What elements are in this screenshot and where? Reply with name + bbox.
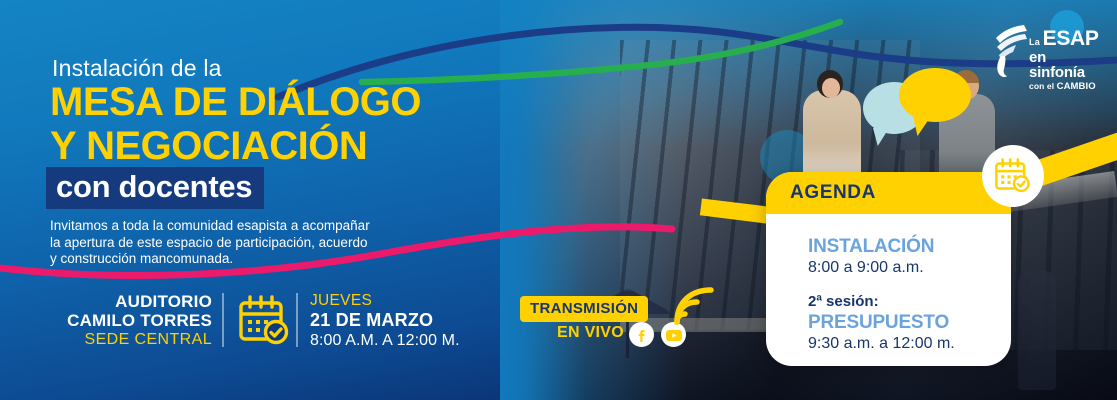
agenda-item: INSTALACIÓN 8:00 a 9:00 a.m. <box>808 236 1011 278</box>
live-broadcast-block: TRANSMISIÓN EN VIVO <box>520 296 700 358</box>
esap-logo-line-3: con el CAMBIO <box>1029 82 1101 92</box>
agenda-item-time: 8:00 a 9:00 a.m. <box>808 258 1011 278</box>
venue-block: AUDITORIO CAMILO TORRES SEDE CENTRAL <box>52 292 212 349</box>
event-banner: Instalación de la MESA DE DIÁLOGO Y NEGO… <box>0 0 1117 400</box>
agenda-item-title: INSTALACIÓN <box>808 236 1011 258</box>
lede-line-1: Invitamos a toda la comunidad esapista a… <box>50 218 430 235</box>
agenda-item-title: PRESUPUESTO <box>808 312 1011 334</box>
lede-line-3: y construcción mancomunada. <box>50 251 430 268</box>
headline-line-1: MESA DE DIÁLOGO <box>50 80 421 124</box>
agenda-calendar-badge <box>982 145 1044 207</box>
event-time: 8:00 A.M. A 12:00 M. <box>310 331 460 350</box>
transmission-pill: TRANSMISIÓN <box>520 296 648 322</box>
agenda-header-label: AGENDA <box>790 182 876 204</box>
agenda-card: AGENDA INSTALACIÓN 8:00 a 9:00 a.m. 2ª s… <box>766 172 1011 366</box>
pencil-flag-icon <box>991 22 1031 80</box>
date-time-block: JUEVES 21 DE MARZO 8:00 A.M. A 12:00 M. <box>310 292 460 350</box>
event-date: 21 DE MARZO <box>310 310 460 331</box>
agenda-item: 2ª sesión: PRESUPUESTO 9:30 a.m. a 12:00… <box>808 292 1011 354</box>
venue-line-3: SEDE CENTRAL <box>52 330 212 349</box>
broadcast-wifi-icon <box>671 284 717 326</box>
divider-right <box>296 293 298 347</box>
page-title: MESA DE DIÁLOGO Y NEGOCIACIÓN <box>50 80 421 168</box>
event-day: JUEVES <box>310 292 460 310</box>
person-woman-face <box>822 78 840 98</box>
kicker-text: Instalación de la <box>52 55 222 82</box>
people-with-speech-bubbles <box>795 48 995 188</box>
subheadline-highlight: con docentes <box>46 167 264 209</box>
esap-logo-la: La <box>1029 37 1043 47</box>
agenda-item-time: 9:30 a.m. a 12:00 m. <box>808 334 1011 354</box>
facebook-icon[interactable] <box>629 322 654 347</box>
subheadline-text: con docentes <box>56 170 252 204</box>
venue-line-2: CAMILO TORRES <box>52 311 212 330</box>
divider-left <box>222 293 224 347</box>
speech-bubble-yellow-icon <box>899 68 971 122</box>
lede-paragraph: Invitamos a toda la comunidad esapista a… <box>50 218 430 268</box>
esap-logo-line-2: en sinfonía <box>1029 50 1101 80</box>
headline-line-2: Y NEGOCIACIÓN <box>50 124 421 168</box>
venue-line-1: AUDITORIO <box>52 292 212 311</box>
lede-line-2: la apertura de este espacio de participa… <box>50 235 430 252</box>
esap-logo-brand: ESAP <box>1043 27 1099 50</box>
esap-logo-line-1: La ESAP <box>1029 28 1101 49</box>
esap-logo-text: La ESAP en sinfonía con el CAMBIO <box>1029 28 1101 92</box>
esap-logo-con-el: con el <box>1029 81 1057 91</box>
passerby-silhouette <box>1018 270 1056 390</box>
agenda-item-prefix: 2ª sesión: <box>808 292 1011 312</box>
calendar-check-icon <box>238 295 292 347</box>
agenda-body: INSTALACIÓN 8:00 a 9:00 a.m. 2ª sesión: … <box>766 214 1011 354</box>
live-label: EN VIVO <box>557 324 624 342</box>
agenda-header: AGENDA <box>766 172 1011 214</box>
esap-logo-cambio: CAMBIO <box>1057 81 1096 92</box>
esap-logo: La ESAP en sinfonía con el CAMBIO <box>991 22 1101 84</box>
